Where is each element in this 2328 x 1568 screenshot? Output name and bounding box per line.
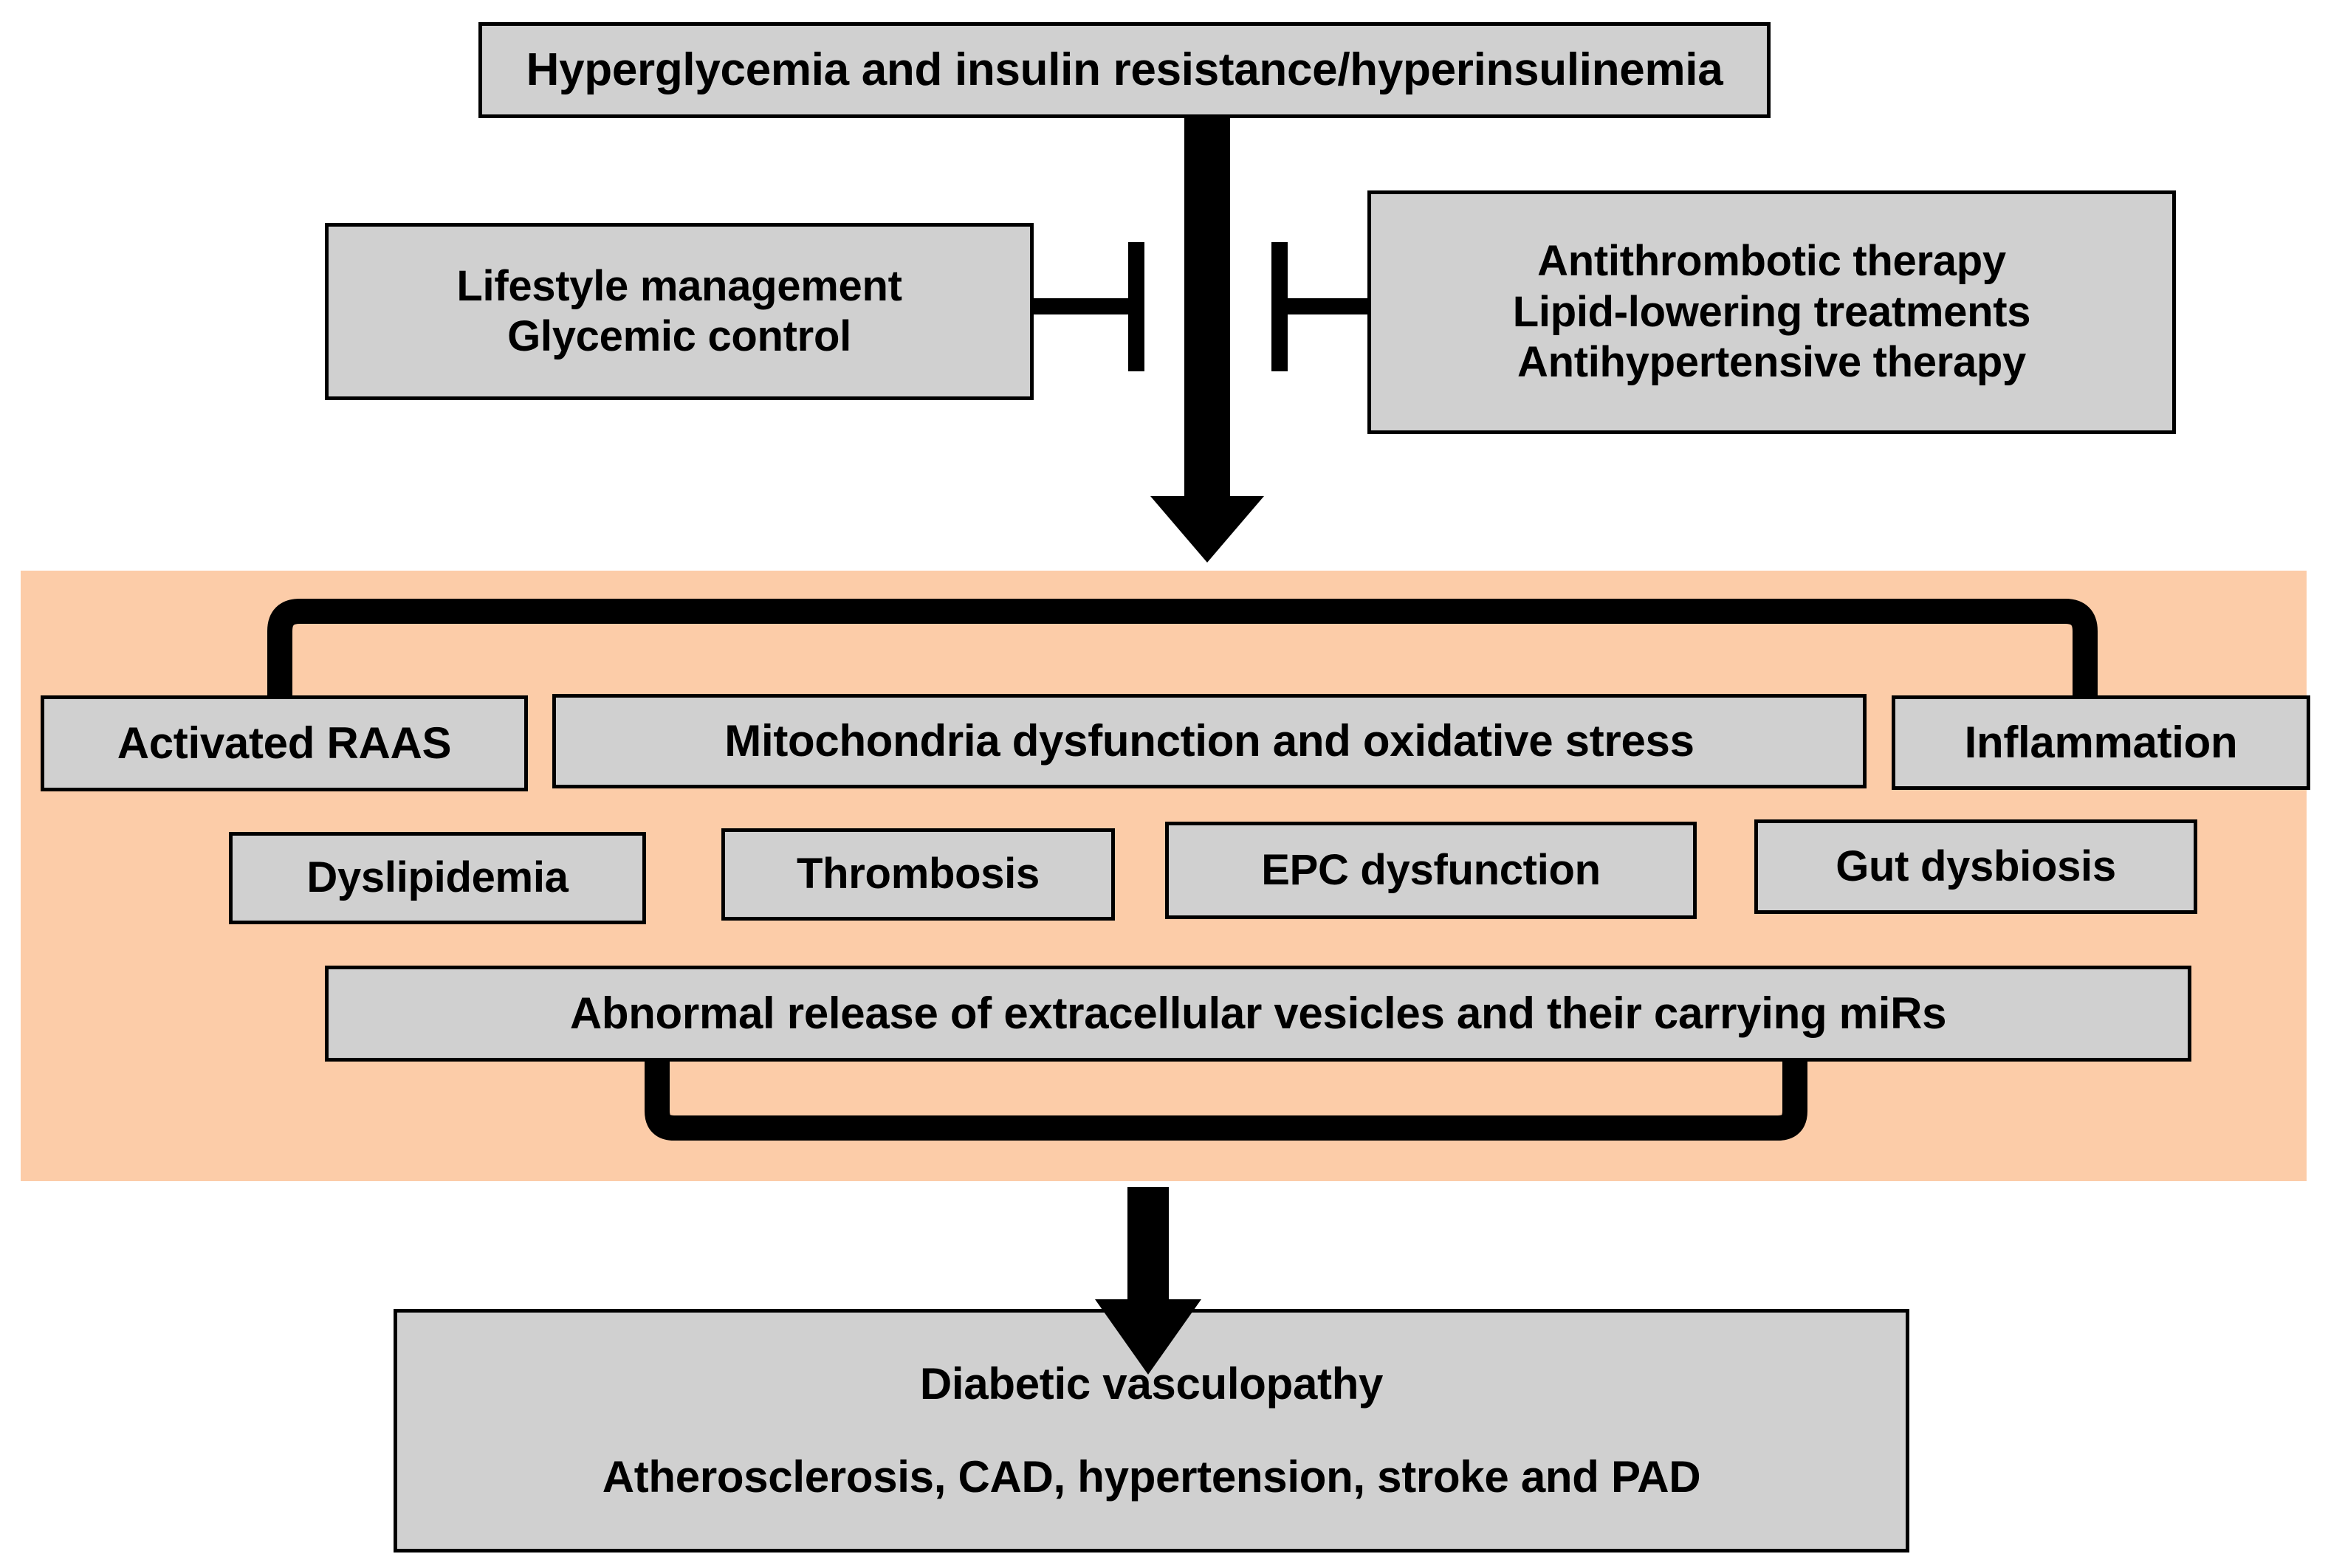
main-downward-arrow bbox=[1150, 118, 1264, 563]
hyperglycemia-box-label: Hyperglycemia and insulin resistance/hyp… bbox=[526, 43, 1723, 97]
epc-dysfunction-label: EPC dysfunction bbox=[1261, 845, 1601, 895]
pharmacotherapy-line-1: Antithrombotic therapy bbox=[1537, 236, 2006, 286]
extracellular-vesicles-label: Abnormal release of extracellular vesicl… bbox=[570, 988, 1946, 1040]
lifestyle-management-box: Lifestyle management Glycemic control bbox=[325, 223, 1034, 400]
inhibition-connector-right bbox=[1271, 242, 1367, 371]
gut-dysbiosis-box: Gut dysbiosis bbox=[1754, 819, 2197, 914]
pharmacotherapy-box: Antithrombotic therapy Lipid-lowering tr… bbox=[1367, 190, 2176, 434]
thrombosis-label: Thrombosis bbox=[797, 849, 1040, 899]
mitochondria-dysfunction-box: Mitochondria dysfunction and oxidative s… bbox=[552, 694, 1867, 788]
diabetic-vasculopathy-subtitle: Atherosclerosis, CAD, hypertension, stro… bbox=[602, 1451, 1701, 1504]
dyslipidemia-label: Dyslipidemia bbox=[306, 853, 568, 903]
pharmacotherapy-line-2: Lipid-lowering treatments bbox=[1513, 287, 2030, 337]
mitochondria-dysfunction-label: Mitochondria dysfunction and oxidative s… bbox=[724, 715, 1694, 768]
extracellular-vesicles-box: Abnormal release of extracellular vesicl… bbox=[325, 966, 2191, 1062]
lifestyle-management-line-2: Glycemic control bbox=[507, 312, 851, 362]
pharmacotherapy-line-3: Antihypertensive therapy bbox=[1517, 337, 2026, 388]
inflammation-label: Inflammation bbox=[1965, 717, 2238, 769]
epc-dysfunction-box: EPC dysfunction bbox=[1165, 822, 1697, 919]
inhibition-connector-left bbox=[1034, 242, 1144, 371]
diabetic-vasculopathy-title: Diabetic vasculopathy bbox=[920, 1358, 1383, 1411]
hyperglycemia-box: Hyperglycemia and insulin resistance/hyp… bbox=[478, 22, 1771, 118]
gut-dysbiosis-label: Gut dysbiosis bbox=[1836, 842, 2116, 892]
lifestyle-management-line-1: Lifestyle management bbox=[456, 261, 902, 312]
dyslipidemia-box: Dyslipidemia bbox=[229, 832, 646, 924]
activated-raas-label: Activated RAAS bbox=[117, 718, 452, 770]
diagram-canvas: Hyperglycemia and insulin resistance/hyp… bbox=[0, 0, 2328, 1568]
diabetic-vasculopathy-box: Diabetic vasculopathy Atherosclerosis, C… bbox=[394, 1309, 1909, 1552]
activated-raas-box: Activated RAAS bbox=[41, 695, 528, 791]
inflammation-box: Inflammation bbox=[1892, 695, 2310, 790]
thrombosis-box: Thrombosis bbox=[721, 828, 1115, 921]
